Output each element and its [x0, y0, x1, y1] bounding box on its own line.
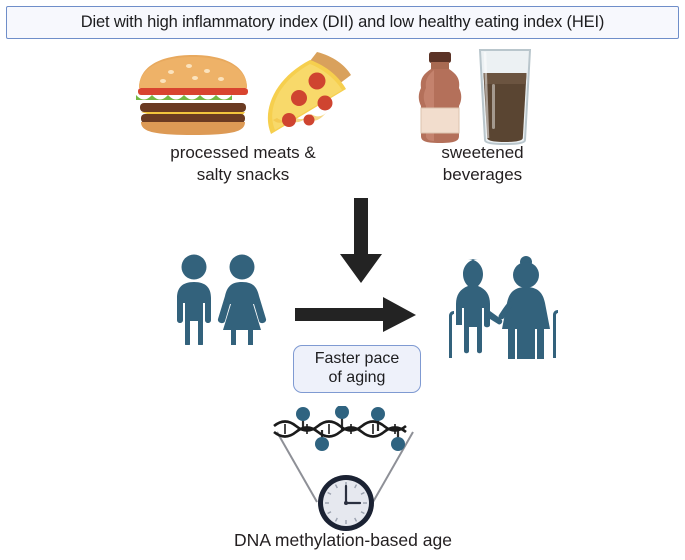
hamburger-icon — [133, 52, 253, 142]
caption-sweetened-beverages: sweetened beverages — [390, 142, 575, 186]
pizza-slice-icon — [247, 48, 357, 145]
pace-box-line2: of aging — [315, 369, 399, 388]
caption-drinks-line2: beverages — [390, 164, 575, 186]
down-arrow-icon — [338, 198, 384, 289]
graphical-abstract: Diet with high inflammatory index (DII) … — [0, 0, 685, 560]
page-title: Diet with high inflammatory index (DII) … — [81, 13, 605, 32]
title-banner: Diet with high inflammatory index (DII) … — [6, 6, 679, 39]
young-woman-figure-icon — [218, 255, 266, 346]
caption-food-line1: processed meats & — [118, 142, 368, 164]
sweetened-bottle-icon — [412, 50, 468, 150]
right-arrow-icon — [295, 297, 417, 338]
caption-drinks-line1: sweetened — [390, 142, 575, 164]
dna-methylation-icon — [272, 406, 418, 457]
caption-food-line2: salty snacks — [118, 164, 368, 186]
caption-dna-methylation-age: DNA methylation-based age — [183, 529, 503, 551]
elderly-woman-figure-icon — [499, 256, 558, 359]
young-man-figure-icon — [177, 255, 211, 346]
faster-pace-of-aging-box: Faster pace of aging — [293, 345, 421, 393]
pace-box-line1: Faster pace — [315, 350, 399, 369]
caption-processed-meats: processed meats & salty snacks — [118, 142, 368, 186]
young-couple-group — [168, 253, 274, 350]
soda-glass-icon — [472, 46, 538, 151]
elderly-man-figure-icon — [449, 259, 502, 358]
elderly-couple-group — [448, 253, 568, 368]
